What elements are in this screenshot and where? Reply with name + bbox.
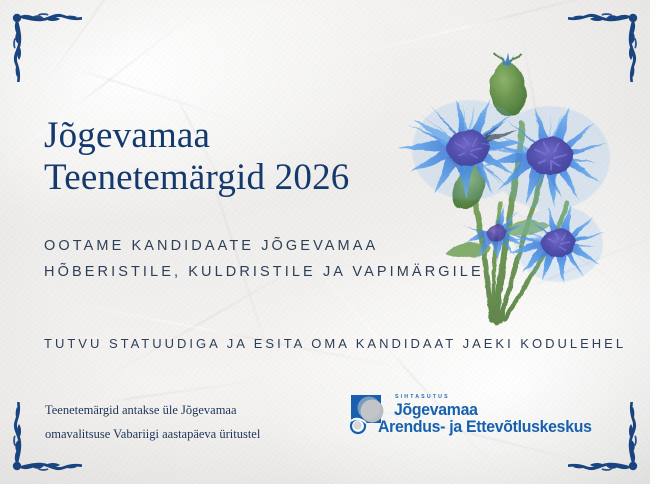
title-line-2: Teenetemärgid 2026 — [44, 157, 444, 199]
corner-ornament-top-right — [564, 8, 642, 86]
footnote: Teenetemärgid antakse üle Jõgevamaa omav… — [45, 398, 315, 446]
call-to-action-text: TUTVU STATUUDIGA JA ESITA OMA KANDIDAAT … — [44, 336, 624, 351]
jaek-logo-wordmark: SIHTASUTUS Jõgevamaa Arendus- ja Ettevõt… — [392, 391, 606, 441]
corner-ornament-top-left — [8, 8, 86, 86]
poster-title: Jõgevamaa Teenetemärgid 2026 — [44, 115, 444, 199]
subtitle-line-1: OOTAME KANDIDAATE JÕGEVAMAA — [44, 233, 514, 259]
poster-canvas: Jõgevamaa Teenetemärgid 2026 OOTAME KAND… — [0, 0, 650, 484]
poster-subtitle: OOTAME KANDIDAATE JÕGEVAMAA HÕBERISTILE,… — [44, 233, 514, 285]
jaek-logo[interactable]: SIHTASUTUS Jõgevamaa Arendus- ja Ettevõt… — [348, 391, 606, 445]
footnote-line-1: Teenetemärgid antakse üle Jõgevamaa — [45, 398, 315, 422]
footnote-line-2: omavalitsuse Vabariigi aastapäeva üritus… — [45, 422, 315, 446]
subtitle-line-2: HÕBERISTILE, KULDRISTILE JA VAPIMÄRGILE — [44, 259, 514, 285]
title-line-1: Jõgevamaa — [44, 115, 444, 157]
logo-line-2: Arendus- ja Ettevõtluskeskus — [378, 417, 592, 437]
